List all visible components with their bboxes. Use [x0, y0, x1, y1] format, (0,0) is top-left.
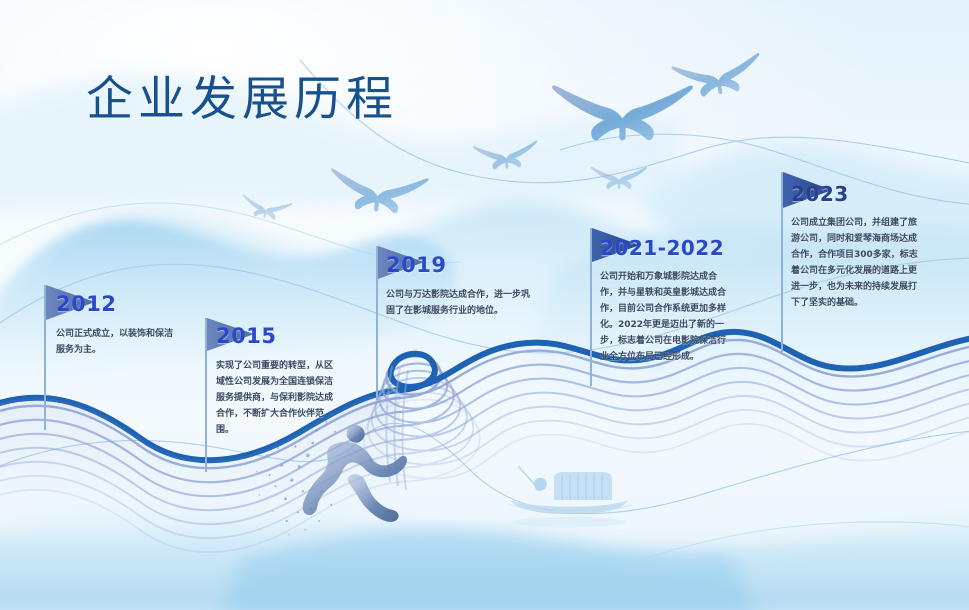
- milestone-year-2019: 2019: [386, 255, 536, 276]
- milestone-desc-2021-2022: 公司开始和万象城影院达成合作，并与星轶和英皇影城达成合作，目前公司合作系统更加多…: [600, 269, 728, 365]
- milestone-desc-2012: 公司正式成立，以装饰和保洁服务为主。: [56, 326, 176, 358]
- milestone-2019[interactable]: 2019 公司与万达影院达成合作，进一步巩固了在影城服务行业的地位。: [386, 255, 536, 319]
- milestone-2023[interactable]: 2023 公司成立集团公司，并组建了旅游公司，同时和爱琴海商场达成合作，合作项目…: [791, 184, 919, 311]
- milestone-2015[interactable]: 2015 实现了公司重要的转型，从区域性公司发展为全国连锁保洁服务提供商，与保利…: [216, 326, 336, 438]
- milestone-2012[interactable]: 2012 公司正式成立，以装饰和保洁服务为主。: [56, 294, 176, 358]
- milestone-2021-2022[interactable]: 2021-2022 公司开始和万象城影院达成合作，并与星轶和英皇影城达成合作，目…: [600, 238, 728, 365]
- poster-canvas: 企业发展历程 2012 公司正式成立，以装饰和保洁服务为主。 2015 实现了公…: [0, 0, 969, 610]
- milestone-desc-2023: 公司成立集团公司，并组建了旅游公司，同时和爱琴海商场达成合作，合作项目300多家…: [791, 215, 919, 311]
- milestone-year-2015: 2015: [216, 326, 336, 347]
- milestone-desc-2015: 实现了公司重要的转型，从区域性公司发展为全国连锁保洁服务提供商，与保利影院达成合…: [216, 358, 336, 438]
- page-title: 企业发展历程: [86, 60, 398, 129]
- milestone-year-2021-2022: 2021-2022: [600, 238, 728, 258]
- milestone-year-2023: 2023: [791, 184, 919, 204]
- milestone-desc-2019: 公司与万达影院达成合作，进一步巩固了在影城服务行业的地位。: [386, 287, 536, 319]
- milestone-year-2012: 2012: [56, 294, 176, 315]
